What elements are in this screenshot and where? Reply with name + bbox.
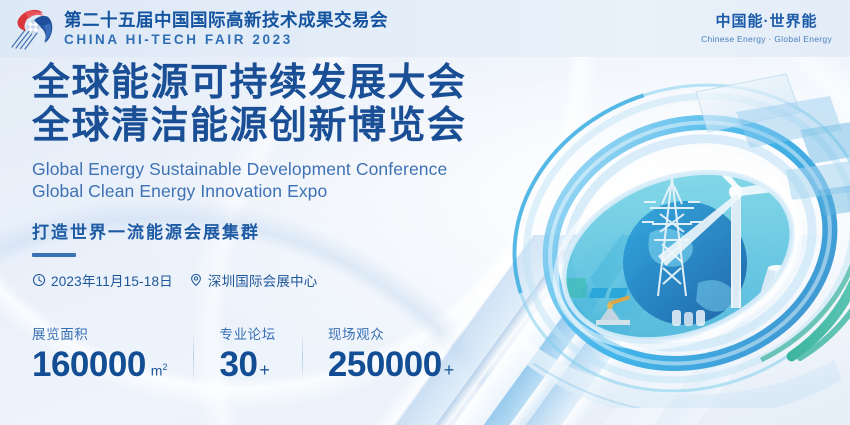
main-title-line1: 全球能源可持续发展大会 bbox=[32, 62, 592, 105]
event-date: 2023年11月15-18日 bbox=[32, 270, 173, 290]
subtitle-line2: Global Clean Energy Innovation Expo bbox=[32, 180, 592, 202]
stat-plus: + bbox=[444, 360, 455, 381]
stat-unit: m2 bbox=[151, 362, 168, 379]
tagline-underline bbox=[32, 253, 76, 257]
clock-icon bbox=[32, 273, 46, 287]
subtitle-line1: Global Energy Sustainable Development Co… bbox=[32, 158, 592, 180]
event-location-text: 深圳国际会展中心 bbox=[208, 270, 318, 290]
stat-label: 现场观众 bbox=[328, 326, 454, 344]
stat-value: 250000 bbox=[328, 346, 442, 384]
event-location: 深圳国际会展中心 bbox=[189, 270, 318, 290]
stat-plus: + bbox=[259, 360, 270, 381]
event-date-text: 2023年11月15-18日 bbox=[51, 270, 173, 290]
main-content: 全球能源可持续发展大会 全球清洁能源创新博览会 Global Energy Su… bbox=[32, 62, 592, 290]
stat-value: 160000 bbox=[32, 346, 146, 384]
header-title-en: CHINA HI-TECH FAIR 2023 bbox=[64, 31, 388, 48]
chtf-logo-icon bbox=[10, 8, 56, 50]
stat-value-row: 160000 m2 bbox=[32, 346, 167, 384]
event-meta: 2023年11月15-18日 深圳国际会展中心 bbox=[32, 270, 592, 290]
sponsor-brand-en: Chinese Energy · Global Energy bbox=[701, 33, 832, 45]
stat-exhibition-area: 展览面积 160000 m2 bbox=[32, 326, 193, 384]
header-title-group: 第二十五届中国国际高新技术成果交易会 CHINA HI-TECH FAIR 20… bbox=[64, 10, 388, 48]
stat-value-row: 250000 + bbox=[328, 346, 454, 384]
stat-value-row: 30 + bbox=[219, 346, 275, 384]
stat-professional-forums: 专业论坛 30 + bbox=[193, 326, 301, 384]
subtitle-group: Global Energy Sustainable Development Co… bbox=[32, 158, 592, 202]
banner-header: 第二十五届中国国际高新技术成果交易会 CHINA HI-TECH FAIR 20… bbox=[0, 0, 850, 57]
stats-row: 展览面积 160000 m2 专业论坛 30 + 现场观众 250000 + bbox=[32, 326, 480, 384]
tagline: 打造世界一流能源会展集群 bbox=[32, 222, 592, 244]
header-brand-group: 第二十五届中国国际高新技术成果交易会 CHINA HI-TECH FAIR 20… bbox=[0, 8, 388, 50]
sponsor-brand: 中国能·世界能 Chinese Energy · Global Energy bbox=[701, 13, 850, 45]
main-title-line2: 全球清洁能源创新博览会 bbox=[32, 105, 592, 148]
stat-label: 展览面积 bbox=[32, 326, 167, 344]
conference-banner: 第二十五届中国国际高新技术成果交易会 CHINA HI-TECH FAIR 20… bbox=[0, 0, 850, 425]
location-pin-icon bbox=[189, 273, 203, 287]
stat-label: 专业论坛 bbox=[219, 326, 275, 344]
stat-value: 30 bbox=[219, 346, 257, 384]
sponsor-brand-cn: 中国能·世界能 bbox=[701, 13, 832, 31]
header-title-cn: 第二十五届中国国际高新技术成果交易会 bbox=[64, 10, 388, 30]
stat-onsite-visitors: 现场观众 250000 + bbox=[302, 326, 480, 384]
